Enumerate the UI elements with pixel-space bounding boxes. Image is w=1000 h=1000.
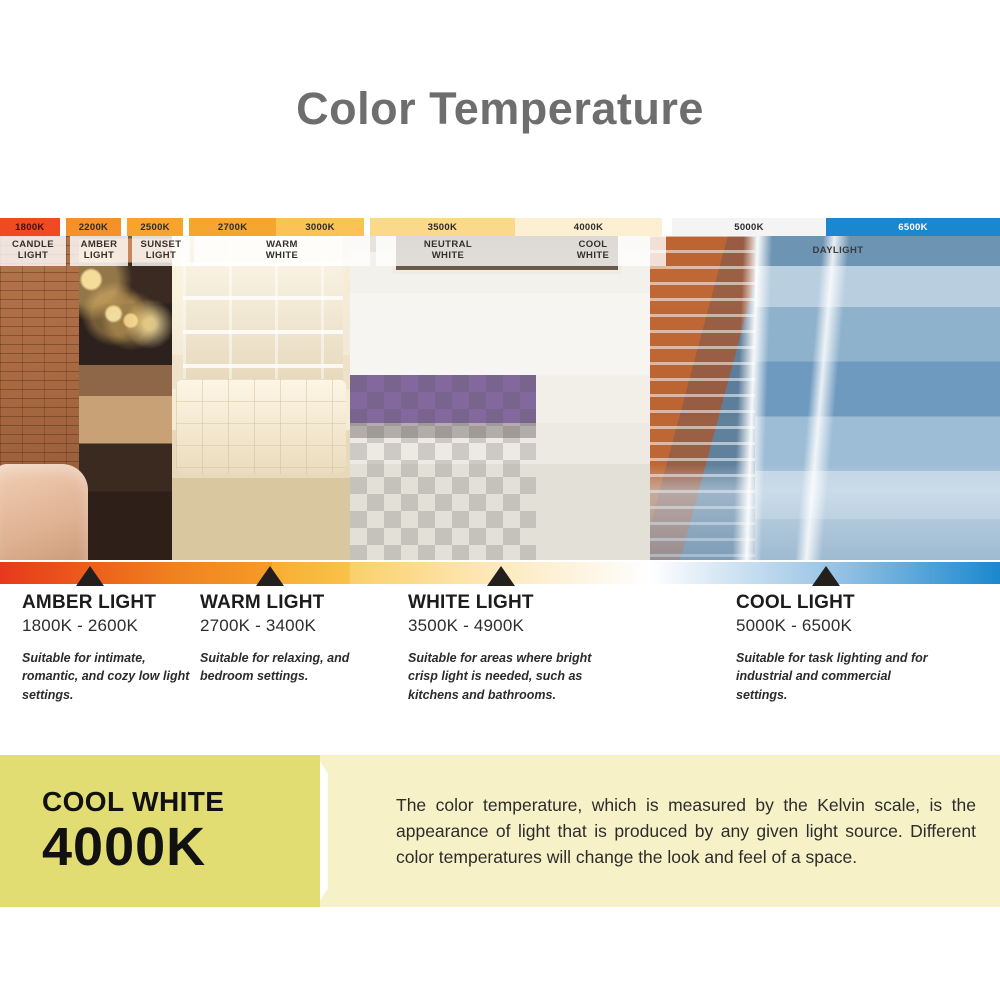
- name-line-2: LIGHT: [18, 251, 49, 262]
- page-title: Color Temperature: [0, 83, 1000, 135]
- category-cool-light: COOL LIGHT 5000K - 6500K Suitable for ta…: [736, 592, 936, 704]
- category-name: AMBER LIGHT: [22, 592, 202, 614]
- name-line-2: WHITE: [266, 251, 299, 262]
- kelvin-name-cool-white: COOL WHITE: [520, 236, 666, 266]
- kelvin-chip-3000k: 3000K: [276, 218, 363, 236]
- category-name: WHITE LIGHT: [408, 592, 618, 614]
- kelvin-chip-6500k: 6500K: [826, 218, 1000, 236]
- kelvin-name-bar: CANDLE LIGHT AMBER LIGHT SUNSET LIGHT WA…: [0, 236, 1000, 266]
- kelvin-name-neutral-white: NEUTRAL WHITE: [376, 236, 520, 266]
- category-range: 1800K - 2600K: [22, 616, 202, 636]
- kelvin-chip-2200k: 2200K: [66, 218, 122, 236]
- infographic-page: Color Temperature 1800K 2200K 2500K 2700…: [0, 0, 1000, 1000]
- pointer-white-light: [487, 566, 515, 586]
- kelvin-name-candle-light: CANDLE LIGHT: [0, 236, 66, 266]
- kelvin-chip-1800k: 1800K: [0, 218, 60, 236]
- kelvin-chip-label: 2200K: [79, 222, 109, 233]
- photo-neutral-white-dining-image: [350, 218, 650, 560]
- category-white-light: WHITE LIGHT 3500K - 4900K Suitable for a…: [408, 592, 618, 704]
- banner-value: 4000K: [42, 820, 320, 875]
- category-description: Suitable for relaxing, and bedroom setti…: [200, 649, 370, 686]
- name-line-2: LIGHT: [146, 251, 177, 262]
- chevron-right-icon: [306, 755, 378, 907]
- kelvin-name-warm-white: WARM WHITE: [194, 236, 370, 266]
- kelvin-value-bar: 1800K 2200K 2500K 2700K 3000K 3500K 4000…: [0, 218, 1000, 236]
- category-captions: AMBER LIGHT 1800K - 2600K Suitable for i…: [0, 592, 1000, 732]
- kelvin-chip-label: 3000K: [305, 222, 335, 233]
- kelvin-chip-2500k: 2500K: [127, 218, 183, 236]
- kelvin-chip-label: 4000K: [574, 222, 604, 233]
- name-line-1: DAYLIGHT: [813, 246, 864, 257]
- kelvin-name-sunset-light: SUNSET LIGHT: [132, 236, 190, 266]
- category-description: Suitable for areas where bright crisp li…: [408, 649, 618, 704]
- banner-description: The color temperature, which is measured…: [396, 792, 976, 871]
- category-name: WARM LIGHT: [200, 592, 370, 614]
- banner-label: COOL WHITE: [42, 786, 320, 818]
- photo-warm-white-lounge-image: [172, 218, 350, 560]
- category-warm-light: WARM LIGHT 2700K - 3400K Suitable for re…: [200, 592, 370, 686]
- name-line-2: WHITE: [432, 251, 465, 262]
- kelvin-chip-label: 5000K: [734, 222, 764, 233]
- kelvin-chip-label: 6500K: [898, 222, 928, 233]
- kelvin-chip-label: 2700K: [218, 222, 248, 233]
- category-description: Suitable for task lighting and for indus…: [736, 649, 936, 704]
- kelvin-chip-2700k: 2700K: [189, 218, 276, 236]
- kelvin-name-amber-light: AMBER LIGHT: [70, 236, 128, 266]
- banner-description-panel: The color temperature, which is measured…: [320, 755, 1000, 907]
- category-amber-light: AMBER LIGHT 1800K - 2600K Suitable for i…: [22, 592, 202, 704]
- photo-daylight-warehouse-image: [650, 218, 1000, 560]
- category-name: COOL LIGHT: [736, 592, 936, 614]
- photo-strip: [0, 218, 1000, 560]
- kelvin-chip-5000k: 5000K: [672, 218, 826, 236]
- pointer-warm-light: [256, 566, 284, 586]
- name-line-2: LIGHT: [84, 251, 115, 262]
- kelvin-name-daylight: DAYLIGHT: [676, 236, 1000, 266]
- pointer-cool-light: [812, 566, 840, 586]
- kelvin-chip-label: 1800K: [15, 222, 45, 233]
- photo-panel-daylight: [650, 218, 1000, 560]
- photo-amber-loft-image: [0, 218, 172, 560]
- name-line-2: WHITE: [577, 251, 610, 262]
- name-gap: [666, 236, 676, 266]
- gradient-segment-amber: [0, 562, 272, 584]
- category-description: Suitable for intimate, romantic, and coz…: [22, 649, 202, 704]
- photo-panel-neutral-cool-white: [350, 218, 650, 560]
- kelvin-chip-3500k: 3500K: [370, 218, 515, 236]
- kelvin-gap: [662, 218, 672, 236]
- category-range: 5000K - 6500K: [736, 616, 936, 636]
- category-range: 3500K - 4900K: [408, 616, 618, 636]
- summary-banner: The color temperature, which is measured…: [0, 755, 1000, 907]
- category-range: 2700K - 3400K: [200, 616, 370, 636]
- photo-panel-warm-white: [172, 218, 350, 560]
- pointer-amber-light: [76, 566, 104, 586]
- kelvin-chip-label: 2500K: [140, 222, 170, 233]
- banner-value-panel: COOL WHITE 4000K: [0, 755, 320, 907]
- photo-panel-candle-amber-sunset: [0, 218, 172, 560]
- kelvin-chip-label: 3500K: [428, 222, 458, 233]
- kelvin-chip-4000k: 4000K: [515, 218, 662, 236]
